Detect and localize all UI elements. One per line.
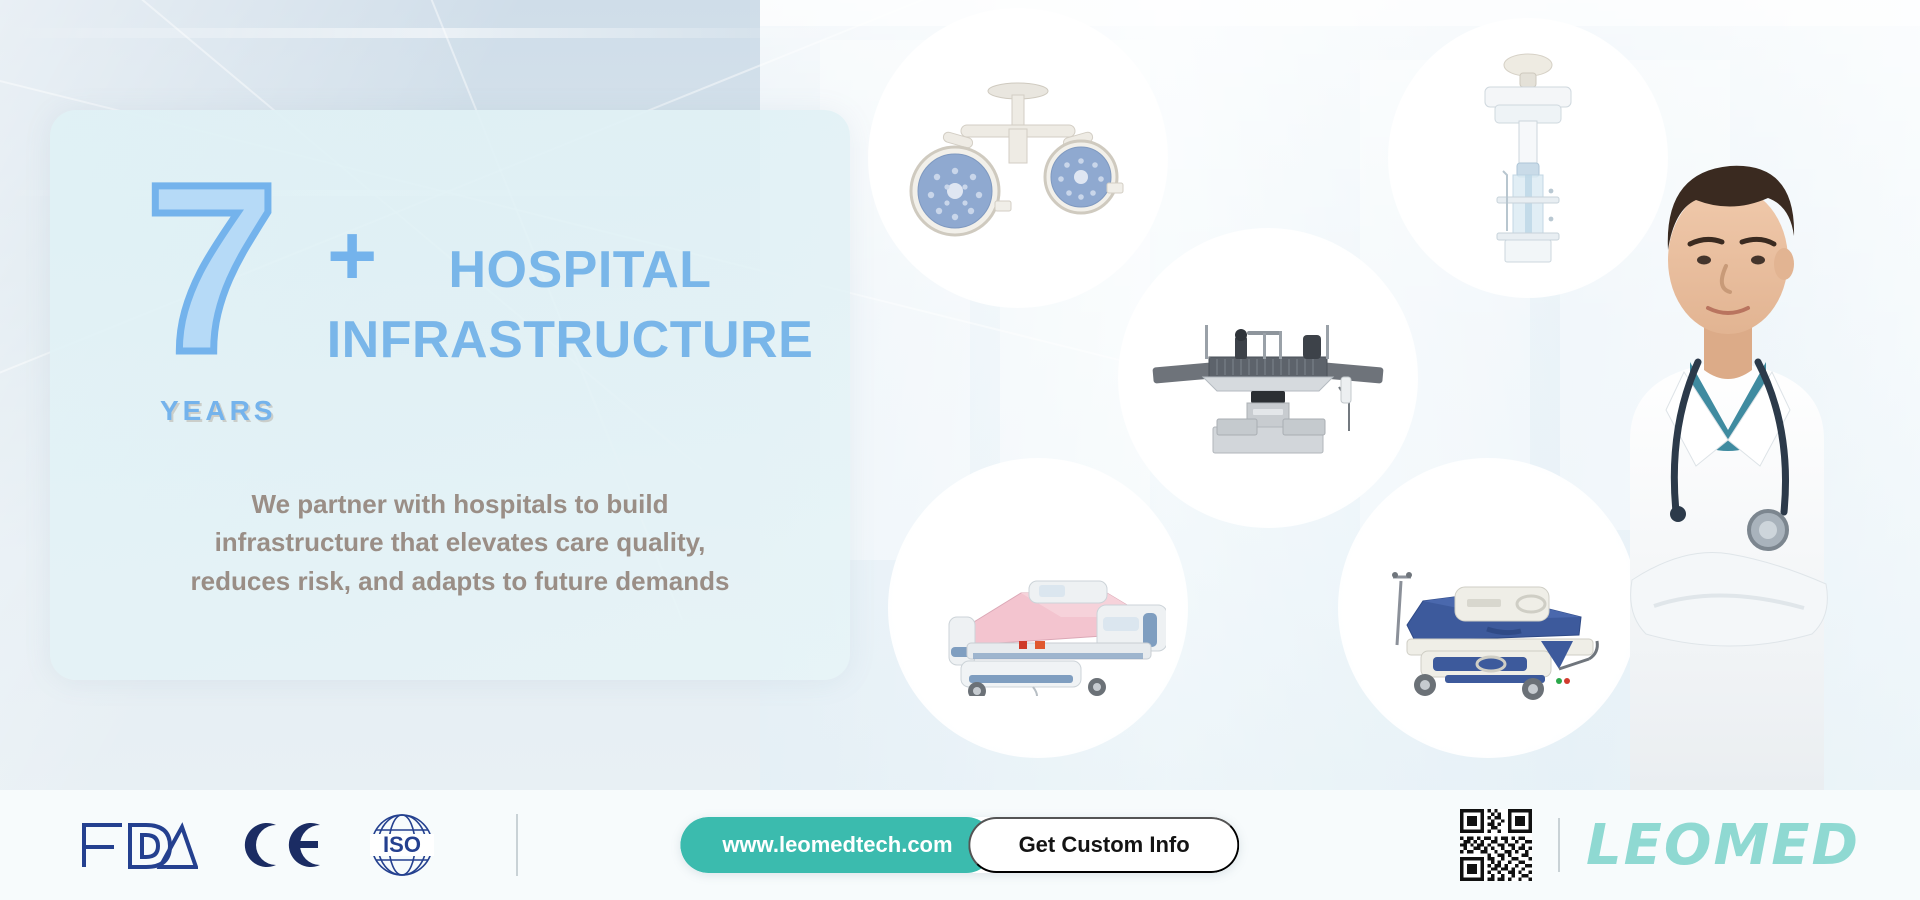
avatar bbox=[1562, 110, 1892, 790]
surgical-light-icon bbox=[903, 73, 1133, 243]
headline-line-2: INFRASTRUCTURE bbox=[290, 305, 850, 375]
promo-banner: 7 7 + YEARS HOSPITAL INFRASTRUCTURE We p… bbox=[0, 0, 1920, 900]
ce-icon bbox=[240, 817, 324, 873]
certification-logos: ISO bbox=[78, 812, 554, 878]
description-line-2: infrastructure that elevates care qualit… bbox=[120, 523, 800, 561]
page-title: HOSPITAL INFRASTRUCTURE bbox=[290, 235, 850, 375]
fda-icon bbox=[78, 817, 198, 873]
operating-table-icon bbox=[1143, 291, 1393, 466]
brand-logo: LEOMED bbox=[1586, 813, 1860, 878]
description-line-1: We partner with hospitals to build bbox=[120, 485, 800, 523]
iso-icon: ISO bbox=[366, 812, 438, 878]
footer-bar: ISO www.leomedtech.com Get Custom Info bbox=[0, 790, 1920, 900]
headline-line-1: HOSPITAL bbox=[290, 235, 850, 305]
years-number: 7 7 bbox=[145, 165, 274, 371]
product-circle-surgical-light[interactable] bbox=[868, 8, 1168, 308]
decor-streak-1 bbox=[0, 28, 860, 38]
hospital-bed-icon bbox=[911, 521, 1166, 696]
footer-divider-left bbox=[516, 814, 518, 876]
cta-group[interactable]: www.leomedtech.com Get Custom Info bbox=[680, 817, 1239, 873]
footer-divider-right bbox=[1558, 818, 1560, 872]
product-circle-hospital-bed[interactable] bbox=[888, 458, 1188, 758]
years-label: YEARS bbox=[160, 395, 276, 427]
description-line-3: reduces risk, and adapts to future deman… bbox=[120, 562, 800, 600]
get-custom-info-button[interactable]: Get Custom Info bbox=[969, 817, 1240, 873]
hero-description: We partner with hospitals to build infra… bbox=[120, 485, 800, 600]
svg-text:ISO: ISO bbox=[383, 832, 421, 857]
website-url[interactable]: www.leomedtech.com bbox=[680, 817, 994, 873]
years-number-main: 7 bbox=[145, 134, 274, 402]
product-circle-operating-table[interactable] bbox=[1118, 228, 1418, 528]
qr-code-icon[interactable] bbox=[1460, 809, 1532, 881]
brand-group: LEOMED bbox=[1460, 809, 1860, 881]
